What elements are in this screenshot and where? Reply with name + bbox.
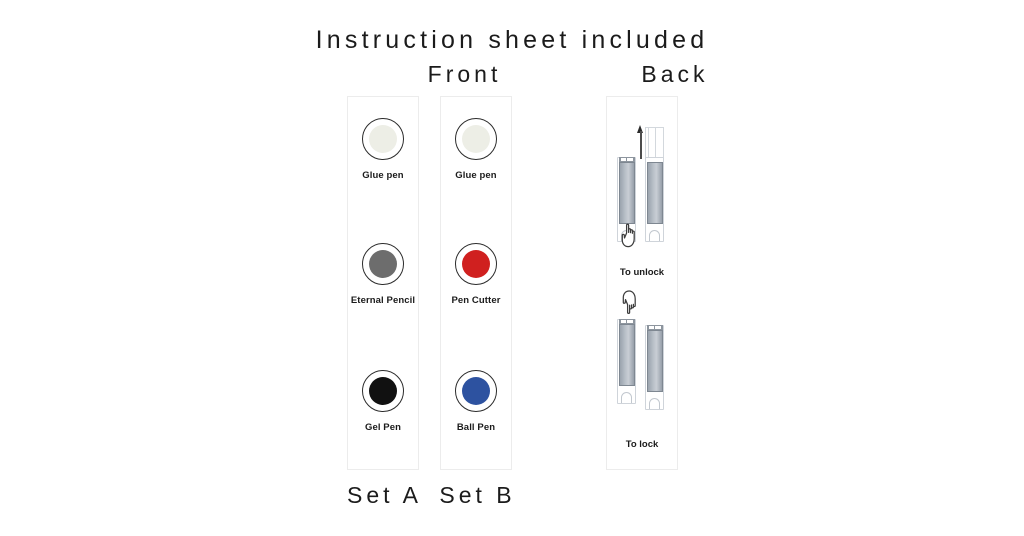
list-item: Pen Cutter (441, 243, 511, 307)
pen-barrel (619, 162, 635, 224)
swatch-fill (462, 377, 490, 405)
swatch-fill (369, 377, 397, 405)
list-item: Glue pen (441, 118, 511, 182)
list-item: Eternal Pencil (348, 243, 418, 307)
pen-barrel (647, 162, 663, 224)
diagram-lock: To lock (607, 287, 677, 462)
hand-pointing-up-icon (618, 221, 640, 254)
list-item-label: Pen Cutter (441, 295, 511, 307)
circle-swatch-icon (455, 370, 497, 412)
pen-cap-lines (648, 128, 664, 158)
page-title: Instruction sheet included (0, 26, 1024, 55)
card-back-instructions: To unlock (606, 96, 678, 470)
diagram-unlock: To unlock (607, 111, 677, 286)
list-item-label: Glue pen (348, 170, 418, 182)
diagram-lock-stage (607, 287, 679, 432)
list-item-label: Ball Pen (441, 422, 511, 434)
circle-swatch-icon (455, 243, 497, 285)
list-item-label: Eternal Pencil (348, 295, 418, 307)
circle-swatch-icon (455, 118, 497, 160)
swatch-fill (369, 125, 397, 153)
arrow-shaft (640, 131, 642, 159)
heading-back: Back (560, 61, 790, 88)
diagram-unlock-stage (607, 111, 679, 256)
pen-arch (649, 398, 660, 409)
pen-barrel (647, 330, 663, 392)
pen-barrel (619, 324, 635, 386)
circle-swatch-icon (362, 370, 404, 412)
diagram-unlock-label: To unlock (607, 267, 677, 278)
list-item: Glue pen (348, 118, 418, 182)
card-set-a: Glue pen Eternal Pencil Gel Pen (347, 96, 419, 470)
list-item-label: Gel Pen (348, 422, 418, 434)
diagram-lock-label: To lock (607, 439, 677, 450)
card-set-b: Glue pen Pen Cutter Ball Pen (440, 96, 512, 470)
pen-arch (621, 392, 632, 403)
footer-label-set-b: Set B (415, 482, 540, 509)
pen-arch (649, 230, 660, 241)
swatch-fill (462, 250, 490, 278)
swatch-fill (369, 250, 397, 278)
list-item: Gel Pen (348, 370, 418, 434)
swatch-fill (462, 125, 490, 153)
pen-cap-extended (645, 127, 664, 159)
list-item-label: Glue pen (441, 170, 511, 182)
circle-swatch-icon (362, 118, 404, 160)
hand-pointing-down-icon (619, 289, 641, 322)
list-item: Ball Pen (441, 370, 511, 434)
circle-swatch-icon (362, 243, 404, 285)
